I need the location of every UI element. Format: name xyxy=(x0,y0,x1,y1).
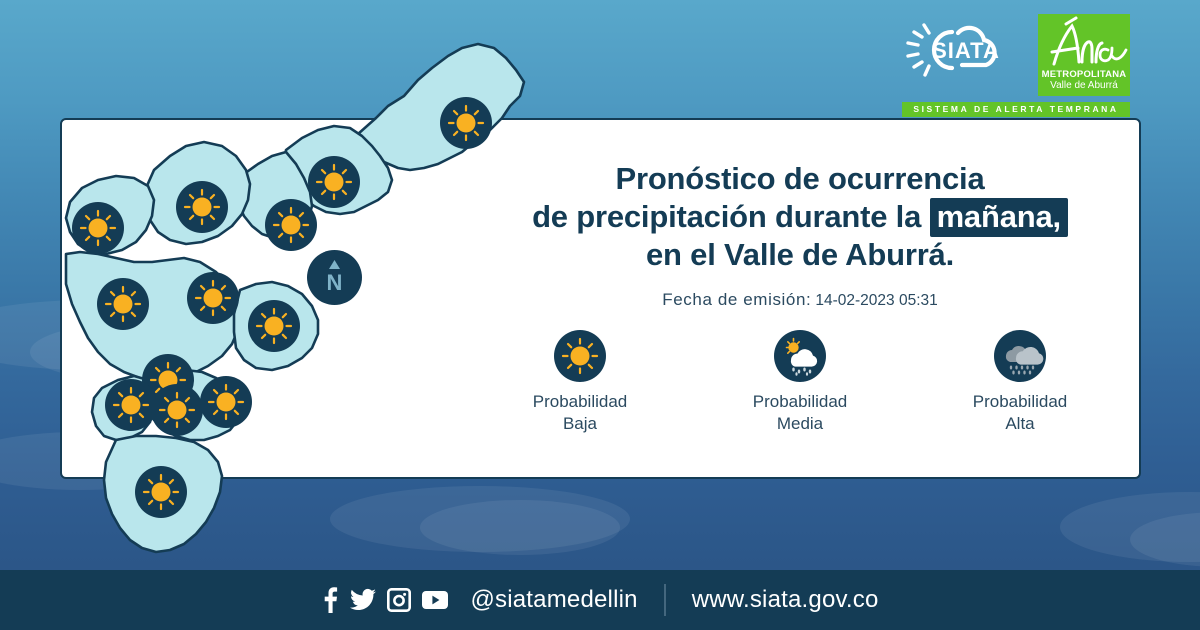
title-line-3: en el Valle de Aburrá. xyxy=(470,236,1130,274)
map-marker-baja xyxy=(135,466,187,518)
footer-content: @siatamedellin www.siata.gov.co xyxy=(321,584,878,616)
area-metropolitana-logo: METROPOLITANA Valle de Aburrá xyxy=(1038,14,1130,96)
legend-item-baja: Probabilidad Baja xyxy=(490,330,670,435)
map-marker-baja xyxy=(248,300,300,352)
social-handle[interactable]: @siatamedellin xyxy=(470,586,637,614)
map-marker-baja xyxy=(97,278,149,330)
map-marker-baja xyxy=(440,97,492,149)
legend-item-alta: Probabilidad Alta xyxy=(930,330,1110,435)
website-url[interactable]: www.siata.gov.co xyxy=(692,586,879,614)
cloud-rain-icon xyxy=(994,330,1046,382)
footer-divider xyxy=(664,584,666,616)
forecast-text-block: Pronóstico de ocurrencia de precipitació… xyxy=(470,160,1130,310)
title-line-2: de precipitación durante la mañana, xyxy=(470,198,1130,236)
alerta-temprana-bar: SISTEMA DE ALERTA TEMPRANA xyxy=(902,102,1130,117)
legend-item-media: Probabilidad Media xyxy=(710,330,890,435)
map-marker-baja xyxy=(265,199,317,251)
instagram-icon[interactable] xyxy=(387,588,411,612)
map-marker-baja xyxy=(105,379,157,431)
sun-cloud-rain-icon xyxy=(774,330,826,382)
legend-label-baja: Probabilidad Baja xyxy=(533,391,628,435)
svg-text:N: N xyxy=(327,270,343,295)
area-logo-line2: Valle de Aburrá xyxy=(1050,80,1118,92)
twitter-icon[interactable] xyxy=(350,588,376,612)
title-line-2-text: de precipitación durante la xyxy=(532,199,921,234)
probability-legend: Probabilidad Baja xyxy=(470,330,1130,435)
legend-label-alta: Probabilidad Alta xyxy=(973,391,1068,435)
emission-date-value: 14-02-2023 05:31 xyxy=(815,292,937,309)
emission-date-label: Fecha de emisión: xyxy=(662,290,811,309)
map-marker-baja xyxy=(187,272,239,324)
infographic-root: N SIATA xyxy=(0,0,1200,630)
header-logos: SIATA METROPOLITANA Valle xyxy=(900,14,1130,114)
facebook-icon[interactable] xyxy=(321,587,339,613)
map-marker-baja xyxy=(151,384,203,436)
social-icons xyxy=(321,587,448,613)
legend-label-media: Probabilidad Media xyxy=(753,391,848,435)
siata-logo: SIATA xyxy=(900,16,1030,88)
emission-date: Fecha de emisión:14-02-2023 05:31 xyxy=(470,290,1130,310)
title-highlight-manana: mañana, xyxy=(930,198,1068,237)
map-marker-baja xyxy=(176,181,228,233)
page-title: Pronóstico de ocurrencia de precipitació… xyxy=(470,160,1130,274)
svg-text:SIATA: SIATA xyxy=(932,38,1000,63)
title-line-1: Pronóstico de ocurrencia xyxy=(470,160,1130,198)
sun-icon xyxy=(554,330,606,382)
area-script-wordmark xyxy=(1038,16,1130,72)
compass-rose: N xyxy=(307,250,362,305)
youtube-icon[interactable] xyxy=(422,590,448,610)
map-marker-baja xyxy=(200,376,252,428)
map-marker-baja xyxy=(72,202,124,254)
footer-bar: @siatamedellin www.siata.gov.co xyxy=(0,570,1200,630)
